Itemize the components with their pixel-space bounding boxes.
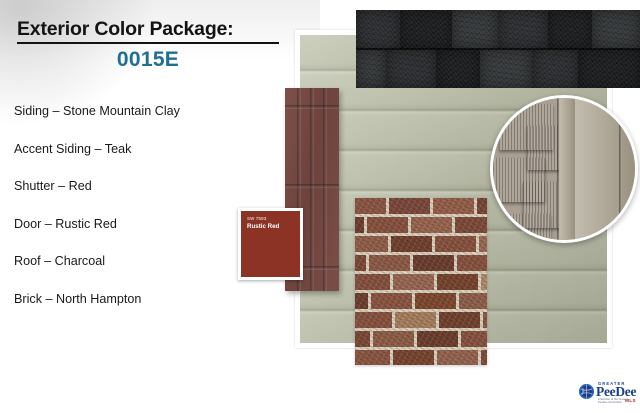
shutter-batten: [310, 88, 314, 291]
trim-groove: [619, 98, 622, 240]
brick-unit: [355, 236, 391, 255]
brick-unit: [355, 331, 373, 350]
brick-unit: [355, 293, 371, 312]
shingle-tab: [356, 49, 388, 88]
trim-groove: [557, 98, 560, 240]
brick-row: [355, 331, 487, 350]
shingle-seam: [356, 48, 640, 50]
brick-swatch: [355, 198, 487, 365]
trim-board: [575, 98, 635, 240]
trim-board: [559, 98, 575, 240]
brick-unit: [355, 274, 393, 293]
brick-unit: [435, 236, 479, 255]
brick-unit: [355, 198, 389, 217]
shingle-tab: [480, 49, 534, 88]
roof-shingle-swatch: [356, 10, 640, 88]
shingle-tab: [532, 49, 580, 88]
brick-unit: [483, 312, 487, 331]
brick-unit: [477, 198, 487, 217]
brick-row: [355, 217, 487, 236]
brick-unit: [415, 293, 459, 312]
brick-unit: [459, 293, 487, 312]
shutter-batten: [323, 88, 327, 291]
shingle-tab: [356, 10, 402, 49]
detail-closeup-circle: [490, 95, 638, 243]
brick-unit: [437, 350, 481, 365]
shingle-tab: [592, 10, 640, 49]
shutter-rail: [285, 184, 339, 188]
brick-unit: [481, 350, 487, 365]
brick-unit: [369, 255, 413, 274]
mls-logo: GREATER PeeDee A Member of the Greater P…: [578, 378, 636, 406]
brick-unit: [481, 274, 487, 293]
brick-unit: [479, 236, 487, 255]
brick-row: [355, 255, 487, 274]
shingle-row: [356, 10, 640, 49]
shingle-tab: [498, 10, 550, 49]
list-item: Brick – North Hampton: [14, 292, 284, 330]
brick-unit: [413, 255, 457, 274]
brick-unit: [439, 312, 483, 331]
brick-unit: [437, 274, 481, 293]
brick-unit: [371, 293, 415, 312]
shake-course: [495, 214, 551, 243]
paint-swatch-code: SW 7593: [247, 216, 295, 222]
brick-row: [355, 312, 487, 331]
shingle-tab: [578, 49, 640, 88]
brick-unit: [393, 274, 437, 293]
shingle-row: [356, 49, 640, 88]
shingle-tab: [452, 10, 500, 49]
list-item: Accent Siding – Teak: [14, 142, 284, 180]
brick-unit: [433, 198, 477, 217]
shingle-tab: [548, 10, 594, 49]
shingle-tab: [436, 49, 482, 88]
brick-row: [355, 198, 487, 217]
brick-unit: [355, 217, 367, 236]
globe-icon: [578, 383, 595, 400]
brick-unit: [389, 198, 433, 217]
list-item: Siding – Stone Mountain Clay: [14, 104, 284, 142]
text-column: Exterior Color Package: 0015E Siding – S…: [0, 0, 292, 413]
brick-unit: [355, 312, 395, 331]
package-code: 0015E: [17, 48, 279, 72]
page-title: Exterior Color Package:: [17, 18, 279, 44]
brick-unit: [391, 236, 435, 255]
detail-inset-content: [493, 98, 635, 240]
brick-unit: [355, 255, 369, 274]
brick-unit: [373, 331, 417, 350]
brick-unit: [367, 217, 411, 236]
brick-row: [355, 274, 487, 293]
brick-unit: [355, 350, 393, 365]
brick-row: [355, 293, 487, 312]
brick-unit: [461, 331, 487, 350]
brick-unit: [395, 312, 439, 331]
brick-unit: [393, 350, 437, 365]
brick-unit: [455, 217, 487, 236]
slide-canvas: Exterior Color Package: 0015E Siding – S…: [0, 0, 640, 413]
shingle-tab: [386, 49, 438, 88]
material-board: SW 7593 Rustic Red: [290, 0, 640, 413]
brick-unit: [411, 217, 455, 236]
brick-row: [355, 236, 487, 255]
brick-unit: [417, 331, 461, 350]
shutter-rail: [285, 105, 339, 109]
paint-swatch-name: Rustic Red: [247, 223, 295, 231]
brick-unit: [457, 255, 487, 274]
shingle-tab: [400, 10, 454, 49]
brick-row: [355, 350, 487, 365]
paint-swatch: SW 7593 Rustic Red: [238, 208, 303, 280]
logo-mls-text: MLS: [625, 398, 636, 403]
